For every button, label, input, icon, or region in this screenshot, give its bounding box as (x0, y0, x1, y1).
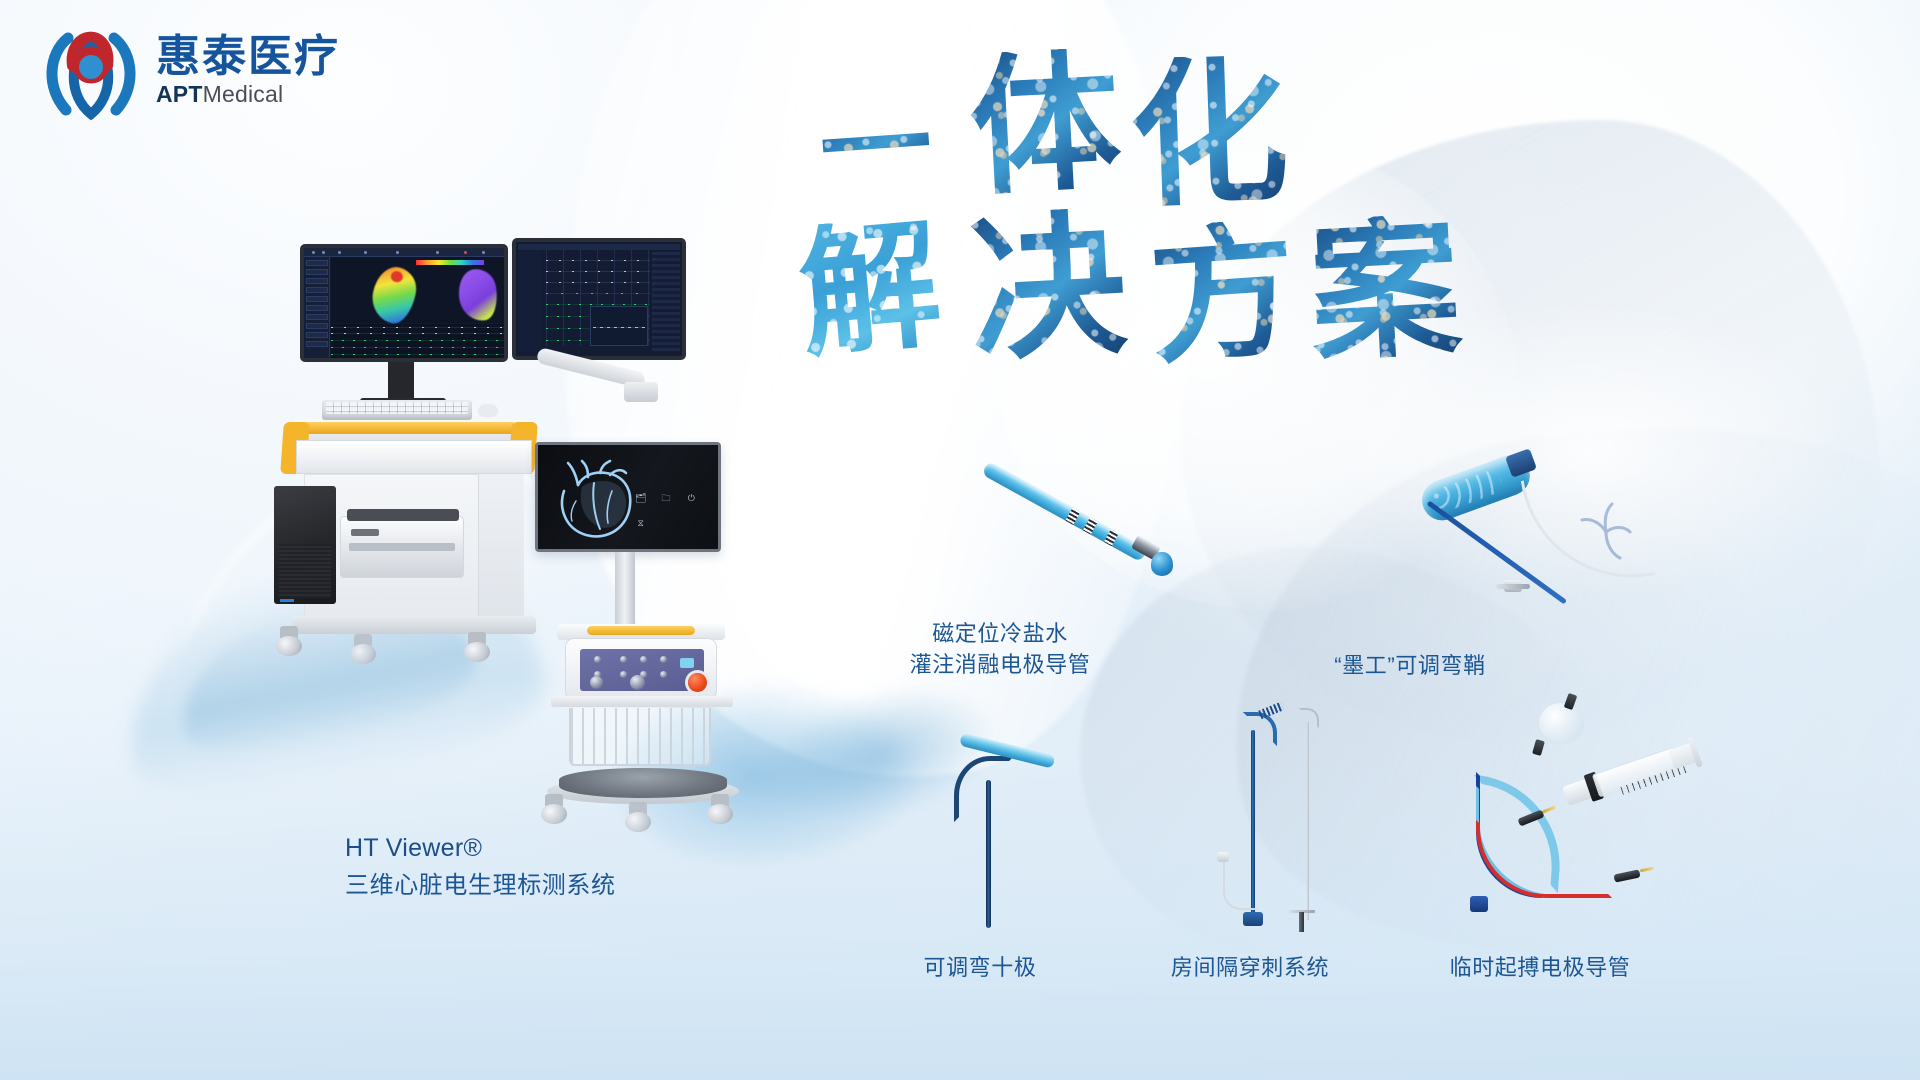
transseptal-needle-shaft (1307, 722, 1309, 920)
syringe-barrel (1592, 747, 1681, 798)
ablation-catheter-caption: 磁定位冷盐水 灌注消融电极导管 (860, 618, 1140, 680)
new-case-icon[interactable]: 🗂 (630, 487, 651, 511)
steerable-sheath-caption: “墨工”可调弯鞘 (1290, 650, 1530, 681)
mapping-screen (304, 248, 504, 358)
workstation-caption-en-text: HT Viewer® (345, 834, 482, 862)
heart-display-icon-row: 🗂 🗀 ⏻ ⧖ (630, 487, 702, 533)
recording-measure-panel (652, 252, 680, 352)
inflation-syringe (1573, 726, 1713, 819)
decapolar-catheter-caption: 可调弯十极 (870, 952, 1090, 983)
headline-char-7: 案 (1306, 212, 1464, 370)
transseptal-sheath-hub (1243, 912, 1263, 926)
saline-droplet (1151, 552, 1173, 576)
transseptal-sidearm (1223, 860, 1257, 910)
mapping-toolbar (304, 248, 504, 257)
heart-display-screen: 🗂 🗀 ⏻ ⧖ (538, 445, 718, 549)
transseptal-needle-hub (1299, 912, 1304, 932)
3d-mapping-monitor (300, 244, 508, 362)
generator-cart-yellow-bar (587, 626, 695, 635)
brand-name-en-bold: APT (156, 81, 203, 107)
steerable-sheath-image (1420, 448, 1720, 638)
cart-caster (350, 634, 376, 664)
pacing-catheter-hub (1470, 896, 1488, 912)
ablation-caption-line1: 磁定位冷盐水 (860, 618, 1140, 649)
temporary-pacing-catheter-image (1470, 690, 1830, 930)
transseptal-needle-curve (1299, 708, 1319, 728)
ecg-recording-monitor (512, 238, 686, 360)
workstation-pc-tower (274, 486, 336, 604)
sheath-curve-diagram (1572, 496, 1642, 566)
headline-char-3: 化 (1127, 53, 1290, 216)
brand-name-cn: 惠泰医疗 (156, 34, 340, 80)
transseptal-sideport (1217, 852, 1229, 862)
chamber-map-voltage (456, 267, 501, 324)
brand-name-en-rest: Medical (203, 81, 284, 107)
heart-display-monitor: 🗂 🗀 ⏻ ⧖ (535, 442, 721, 552)
workstation-caption-en: HT Viewer® (345, 830, 616, 868)
pacing-connector-red (1613, 869, 1640, 882)
transseptal-sheath-markers (1258, 702, 1284, 719)
poster-canvas: 惠泰医疗 APTMedical 一 体 化 解 决 方 案 (0, 0, 1920, 1080)
recording-inset-window (590, 306, 648, 346)
headline-char-4: 解 (794, 214, 946, 366)
mapping-ecg-band (331, 324, 504, 358)
headline-calligraphy: 一 体 化 解 决 方 案 (960, 40, 1660, 340)
recording-channel-list (518, 252, 542, 352)
brand-logo: 惠泰医疗 APTMedical (42, 22, 340, 120)
open-folder-icon[interactable]: 🗀 (655, 487, 676, 511)
rf-generator (565, 638, 717, 700)
cart-storage-basket (569, 708, 711, 766)
workstation-caption: HT Viewer® 三维心脏电生理标测系统 (345, 830, 616, 904)
adjust-icon[interactable]: ⧖ (630, 515, 651, 534)
sheath-hemostasis-valve (1496, 576, 1530, 596)
temporary-pacing-catheter-caption: 临时起搏电极导管 (1400, 952, 1680, 983)
generator-lower-shelf (551, 696, 733, 707)
transseptal-system-caption: 房间隔穿刺系统 (1130, 952, 1370, 983)
generator-power-button[interactable] (688, 673, 707, 692)
ablation-catheter-image (985, 452, 1165, 572)
pacing-balloon (1538, 702, 1584, 744)
brand-name-en: APTMedical (156, 82, 340, 107)
headline-char-2: 体 (966, 46, 1124, 204)
headline-char-5: 决 (966, 206, 1130, 370)
power-icon[interactable]: ⏻ (681, 487, 702, 511)
cart-caster (276, 626, 302, 656)
ablation-caption-line2: 灌注消融电极导管 (860, 649, 1140, 680)
monitor-swing-arm (536, 360, 658, 394)
mouse[interactable] (478, 404, 498, 417)
display-stand-neck (615, 552, 635, 624)
cart-caster (541, 794, 567, 824)
monitor-stand-neck (388, 362, 414, 400)
cart-caster (625, 802, 651, 832)
recording-screen (516, 242, 682, 356)
apt-medical-logo-icon (42, 22, 140, 120)
mapping-3d-canvas (331, 257, 504, 323)
brand-text: 惠泰医疗 APTMedical (156, 34, 340, 107)
workstation-caption-cn: 三维心脏电生理标测系统 (345, 868, 616, 904)
transseptal-system-image (1215, 700, 1355, 925)
cart-caster (707, 794, 733, 824)
cart-drawer[interactable] (296, 440, 532, 474)
cart-side-column (478, 474, 524, 624)
cart-base-dome (559, 768, 727, 798)
cart-yellow-bar (300, 422, 518, 434)
mapping-sidebar (304, 257, 330, 358)
keyboard[interactable] (322, 400, 472, 420)
decapolar-catheter-image (940, 730, 1080, 930)
headline-char-6: 方 (1145, 217, 1301, 373)
report-printer (340, 516, 464, 578)
cart-base (292, 616, 536, 634)
chamber-map-activation (368, 263, 421, 327)
workstation-cart (292, 420, 536, 650)
catheter-shaft (981, 461, 1147, 562)
cart-caster (464, 632, 490, 662)
headline-char-1: 一 (816, 88, 936, 208)
heart-display-cart: 🗂 🗀 ⏻ ⧖ (535, 442, 775, 862)
color-scale-bar (416, 260, 484, 265)
